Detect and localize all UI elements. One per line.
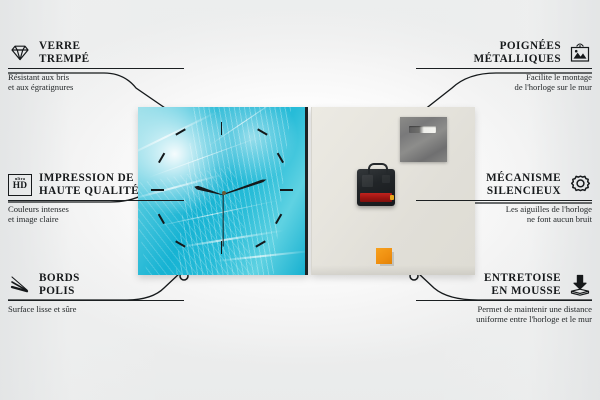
feature-divider <box>416 200 592 201</box>
movement-detail <box>382 175 390 183</box>
polished-edges-icon <box>8 274 32 296</box>
aa-battery <box>360 193 392 202</box>
feature-header: VERRE TREMPÉ <box>8 40 184 65</box>
hour-mark <box>277 153 284 163</box>
feature-divider <box>8 300 184 301</box>
feature-header: ENTRETOISE EN MOUSSE <box>416 272 592 297</box>
feature-header: BORDS POLIS <box>8 272 184 297</box>
second-hand <box>223 194 224 246</box>
feature-header: ultra HD IMPRESSION DE HAUTE QUALITÉ <box>8 172 184 197</box>
hour-mark <box>275 214 282 224</box>
feature-title: ENTRETOISE EN MOUSSE <box>484 272 561 297</box>
feature-divider <box>416 68 592 69</box>
feature-verre-trempe: VERRE TREMPÉ Résistant aux bris et aux é… <box>8 40 184 93</box>
hour-mark <box>257 128 267 135</box>
hour-mark <box>175 128 185 135</box>
feature-title: IMPRESSION DE HAUTE QUALITÉ <box>39 172 139 197</box>
picture-hanger-icon <box>568 42 592 64</box>
feature-header: POIGNÉES MÉTALLIQUES <box>416 40 592 65</box>
movement-detail <box>362 175 373 187</box>
feature-impression-haute-qualite: ultra HD IMPRESSION DE HAUTE QUALITÉ Cou… <box>8 172 184 225</box>
feature-divider <box>416 300 592 301</box>
feature-poignees-metalliques: POIGNÉES MÉTALLIQUES Facilite le montage… <box>416 40 592 93</box>
hour-mark <box>158 153 165 163</box>
feature-entretoise-en-mousse: ENTRETOISE EN MOUSSE Permet de maintenir… <box>416 272 592 325</box>
hour-mark <box>255 240 265 247</box>
metal-hanger-plate <box>400 117 447 162</box>
gear-icon <box>568 174 592 196</box>
spacer-arrow-icon <box>568 274 592 296</box>
hour-mark <box>175 240 185 247</box>
feature-header: MÉCANISME SILENCIEUX <box>416 172 592 197</box>
infographic-canvas: VERRE TREMPÉ Résistant aux bris et aux é… <box>0 0 600 400</box>
hour-mark <box>280 189 293 191</box>
feature-title: VERRE TREMPÉ <box>39 40 90 65</box>
hour-hand <box>193 184 223 196</box>
diamond-icon <box>8 42 32 64</box>
feature-title: MÉCANISME SILENCIEUX <box>486 172 561 197</box>
clock-center-cap <box>222 191 226 195</box>
feature-subtitle: Les aiguilles de l'horloge ne font aucun… <box>416 204 592 225</box>
feature-subtitle: Résistant aux bris et aux égratignures <box>8 72 184 93</box>
feature-subtitle: Permet de maintenir une distance uniform… <box>416 304 592 325</box>
ultra-hd-icon: ultra HD <box>8 174 32 196</box>
ultra-hd-icon-main-text: HD <box>13 182 27 191</box>
minute-hand <box>222 178 266 196</box>
feature-title: BORDS POLIS <box>39 272 80 297</box>
hour-mark <box>221 122 223 135</box>
feature-subtitle: Facilite le montage de l'horloge sur le … <box>416 72 592 93</box>
quartz-movement-box <box>357 169 395 206</box>
feature-divider <box>8 200 184 201</box>
feature-divider <box>8 68 184 69</box>
feature-mecanisme-silencieux: MÉCANISME SILENCIEUX Les aiguilles de l'… <box>416 172 592 225</box>
foam-spacer <box>376 248 392 264</box>
feature-subtitle: Couleurs intenses et image claire <box>8 204 184 225</box>
feature-title: POIGNÉES MÉTALLIQUES <box>474 40 561 65</box>
feature-bords-polis: BORDS POLIS Surface lisse et sûre <box>8 272 184 314</box>
feature-subtitle: Surface lisse et sûre <box>8 304 184 314</box>
movement-hanger-loop <box>368 163 388 174</box>
